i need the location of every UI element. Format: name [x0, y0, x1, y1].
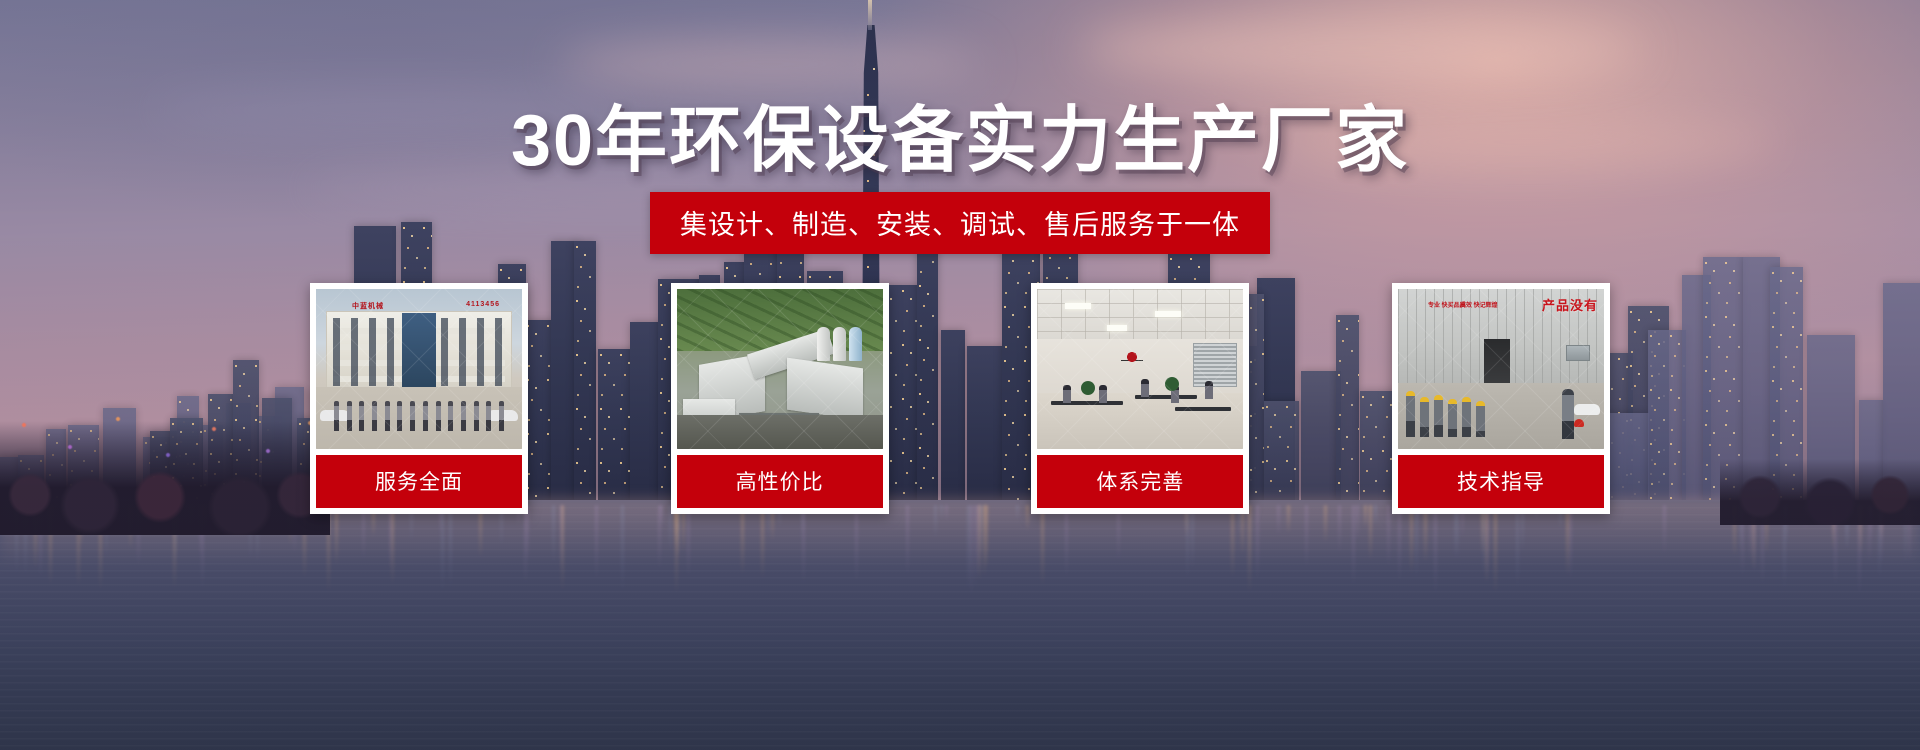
headline-container: 30年环保设备实力生产厂家: [0, 105, 1920, 177]
building-phone-text: 4113456: [466, 301, 500, 308]
water-reflection: [855, 505, 858, 584]
storage-silo: [833, 327, 846, 361]
water-reflection: [1352, 505, 1355, 588]
water-reflection: [1231, 505, 1234, 578]
water-reflection: [389, 505, 392, 572]
water-reflection: [1569, 505, 1572, 581]
building-glass-facade: [402, 313, 436, 387]
card-photo-aerial-view-industrial-plant: [677, 289, 883, 449]
banner-subtitle: 集设计、制造、安装、调试、售后服务于一体: [650, 192, 1270, 254]
feature-card[interactable]: 高性价比: [671, 283, 889, 514]
storage-silo: [849, 327, 862, 361]
water-reflection: [687, 505, 690, 579]
water-reflection: [985, 505, 988, 569]
card-label: 技术指导: [1398, 455, 1604, 508]
water-reflection: [1248, 505, 1251, 593]
card-label: 体系完善: [1037, 455, 1243, 508]
ceiling-light: [1065, 303, 1091, 309]
water-reflection: [1494, 505, 1497, 594]
seated-person: [1099, 385, 1107, 403]
skyline-building: [1604, 413, 1649, 500]
water-reflection: [1485, 505, 1488, 585]
water-reflection: [1566, 505, 1569, 576]
factory-door: [1484, 339, 1510, 383]
card-photo-workers-briefing-at-factory: 产品没有 专业 快买品质 高效 快记辉煌: [1398, 289, 1604, 449]
water-reflection: [1516, 505, 1519, 589]
water-reflection: [561, 505, 564, 591]
feature-card[interactable]: 体系完善: [1031, 283, 1249, 514]
red-helmet: [1574, 419, 1584, 427]
tree-lights-left: [0, 385, 340, 515]
water-reflection: [1191, 505, 1194, 571]
skyline-building: [1648, 330, 1686, 500]
seated-person: [1141, 379, 1149, 397]
water-reflection: [906, 505, 909, 576]
card-label: 服务全面: [316, 455, 522, 508]
factory-window: [1566, 345, 1590, 361]
subtitle-container: 集设计、制造、安装、调试、售后服务于一体: [0, 192, 1920, 254]
water-reflection: [1305, 505, 1308, 569]
staff-lineup: [334, 401, 504, 431]
water-reflection: [552, 505, 555, 565]
water-reflection: [1065, 505, 1068, 578]
feature-card[interactable]: 中蓝机械 4113456 服务全面: [310, 283, 528, 514]
office-ceiling: [1037, 289, 1243, 339]
seated-person: [1205, 381, 1213, 399]
foreground-trees-right: [1720, 405, 1920, 525]
factory-slogan-text: 高效 快记辉煌: [1460, 303, 1498, 311]
supervisor-figure: [1562, 389, 1574, 439]
card-label: 高性价比: [677, 455, 883, 508]
feature-cards: 中蓝机械 4113456 服务全面: [310, 283, 1610, 514]
hero-banner: 30年环保设备实力生产厂家 集设计、制造、安装、调试、售后服务于一体 中蓝机械 …: [0, 0, 1920, 750]
wall-logo: [1121, 349, 1143, 369]
seated-person: [1063, 385, 1071, 403]
water-reflection: [1410, 505, 1413, 574]
water-reflection: [595, 505, 598, 581]
water-reflection: [1186, 505, 1189, 580]
water-reflection: [970, 505, 973, 597]
building-sign-text: 中蓝机械: [352, 301, 384, 311]
card-photo-company-office-building-with-staff: 中蓝机械 4113456: [316, 289, 522, 449]
water-reflection: [1256, 505, 1259, 582]
window-blinds: [1193, 343, 1237, 387]
water-reflection: [524, 505, 527, 586]
office-desk: [1051, 401, 1123, 405]
ceiling-light: [1155, 311, 1181, 317]
water-reflection: [1041, 505, 1044, 587]
card-photo-office-interior-workstations: [1037, 289, 1243, 449]
water-reflection: [802, 505, 805, 586]
water-reflection: [621, 505, 624, 594]
plant-structure: [787, 358, 863, 421]
parked-car: [1574, 404, 1600, 415]
water-reflection: [1663, 505, 1666, 555]
ceiling-light: [1107, 325, 1127, 331]
tower-spire: [868, 0, 872, 30]
water-reflection: [978, 505, 981, 582]
office-desk: [1175, 407, 1231, 411]
feature-card[interactable]: 产品没有 专业 快买品质 高效 快记辉煌 技术指导: [1392, 283, 1610, 514]
water-reflection: [974, 505, 977, 589]
worker-lineup: [1406, 391, 1526, 437]
water-reflection: [1387, 505, 1390, 568]
water-reflection: [449, 505, 452, 589]
water-reflection: [741, 505, 744, 575]
water-reflection: [1434, 505, 1437, 596]
plant-road: [677, 415, 883, 449]
water-reflection: [1398, 505, 1401, 584]
storage-silo: [817, 327, 830, 361]
water-reflection: [761, 505, 764, 579]
factory-sign-text: 产品没有: [1542, 295, 1598, 314]
banner-headline: 30年环保设备实力生产厂家: [511, 105, 1409, 177]
